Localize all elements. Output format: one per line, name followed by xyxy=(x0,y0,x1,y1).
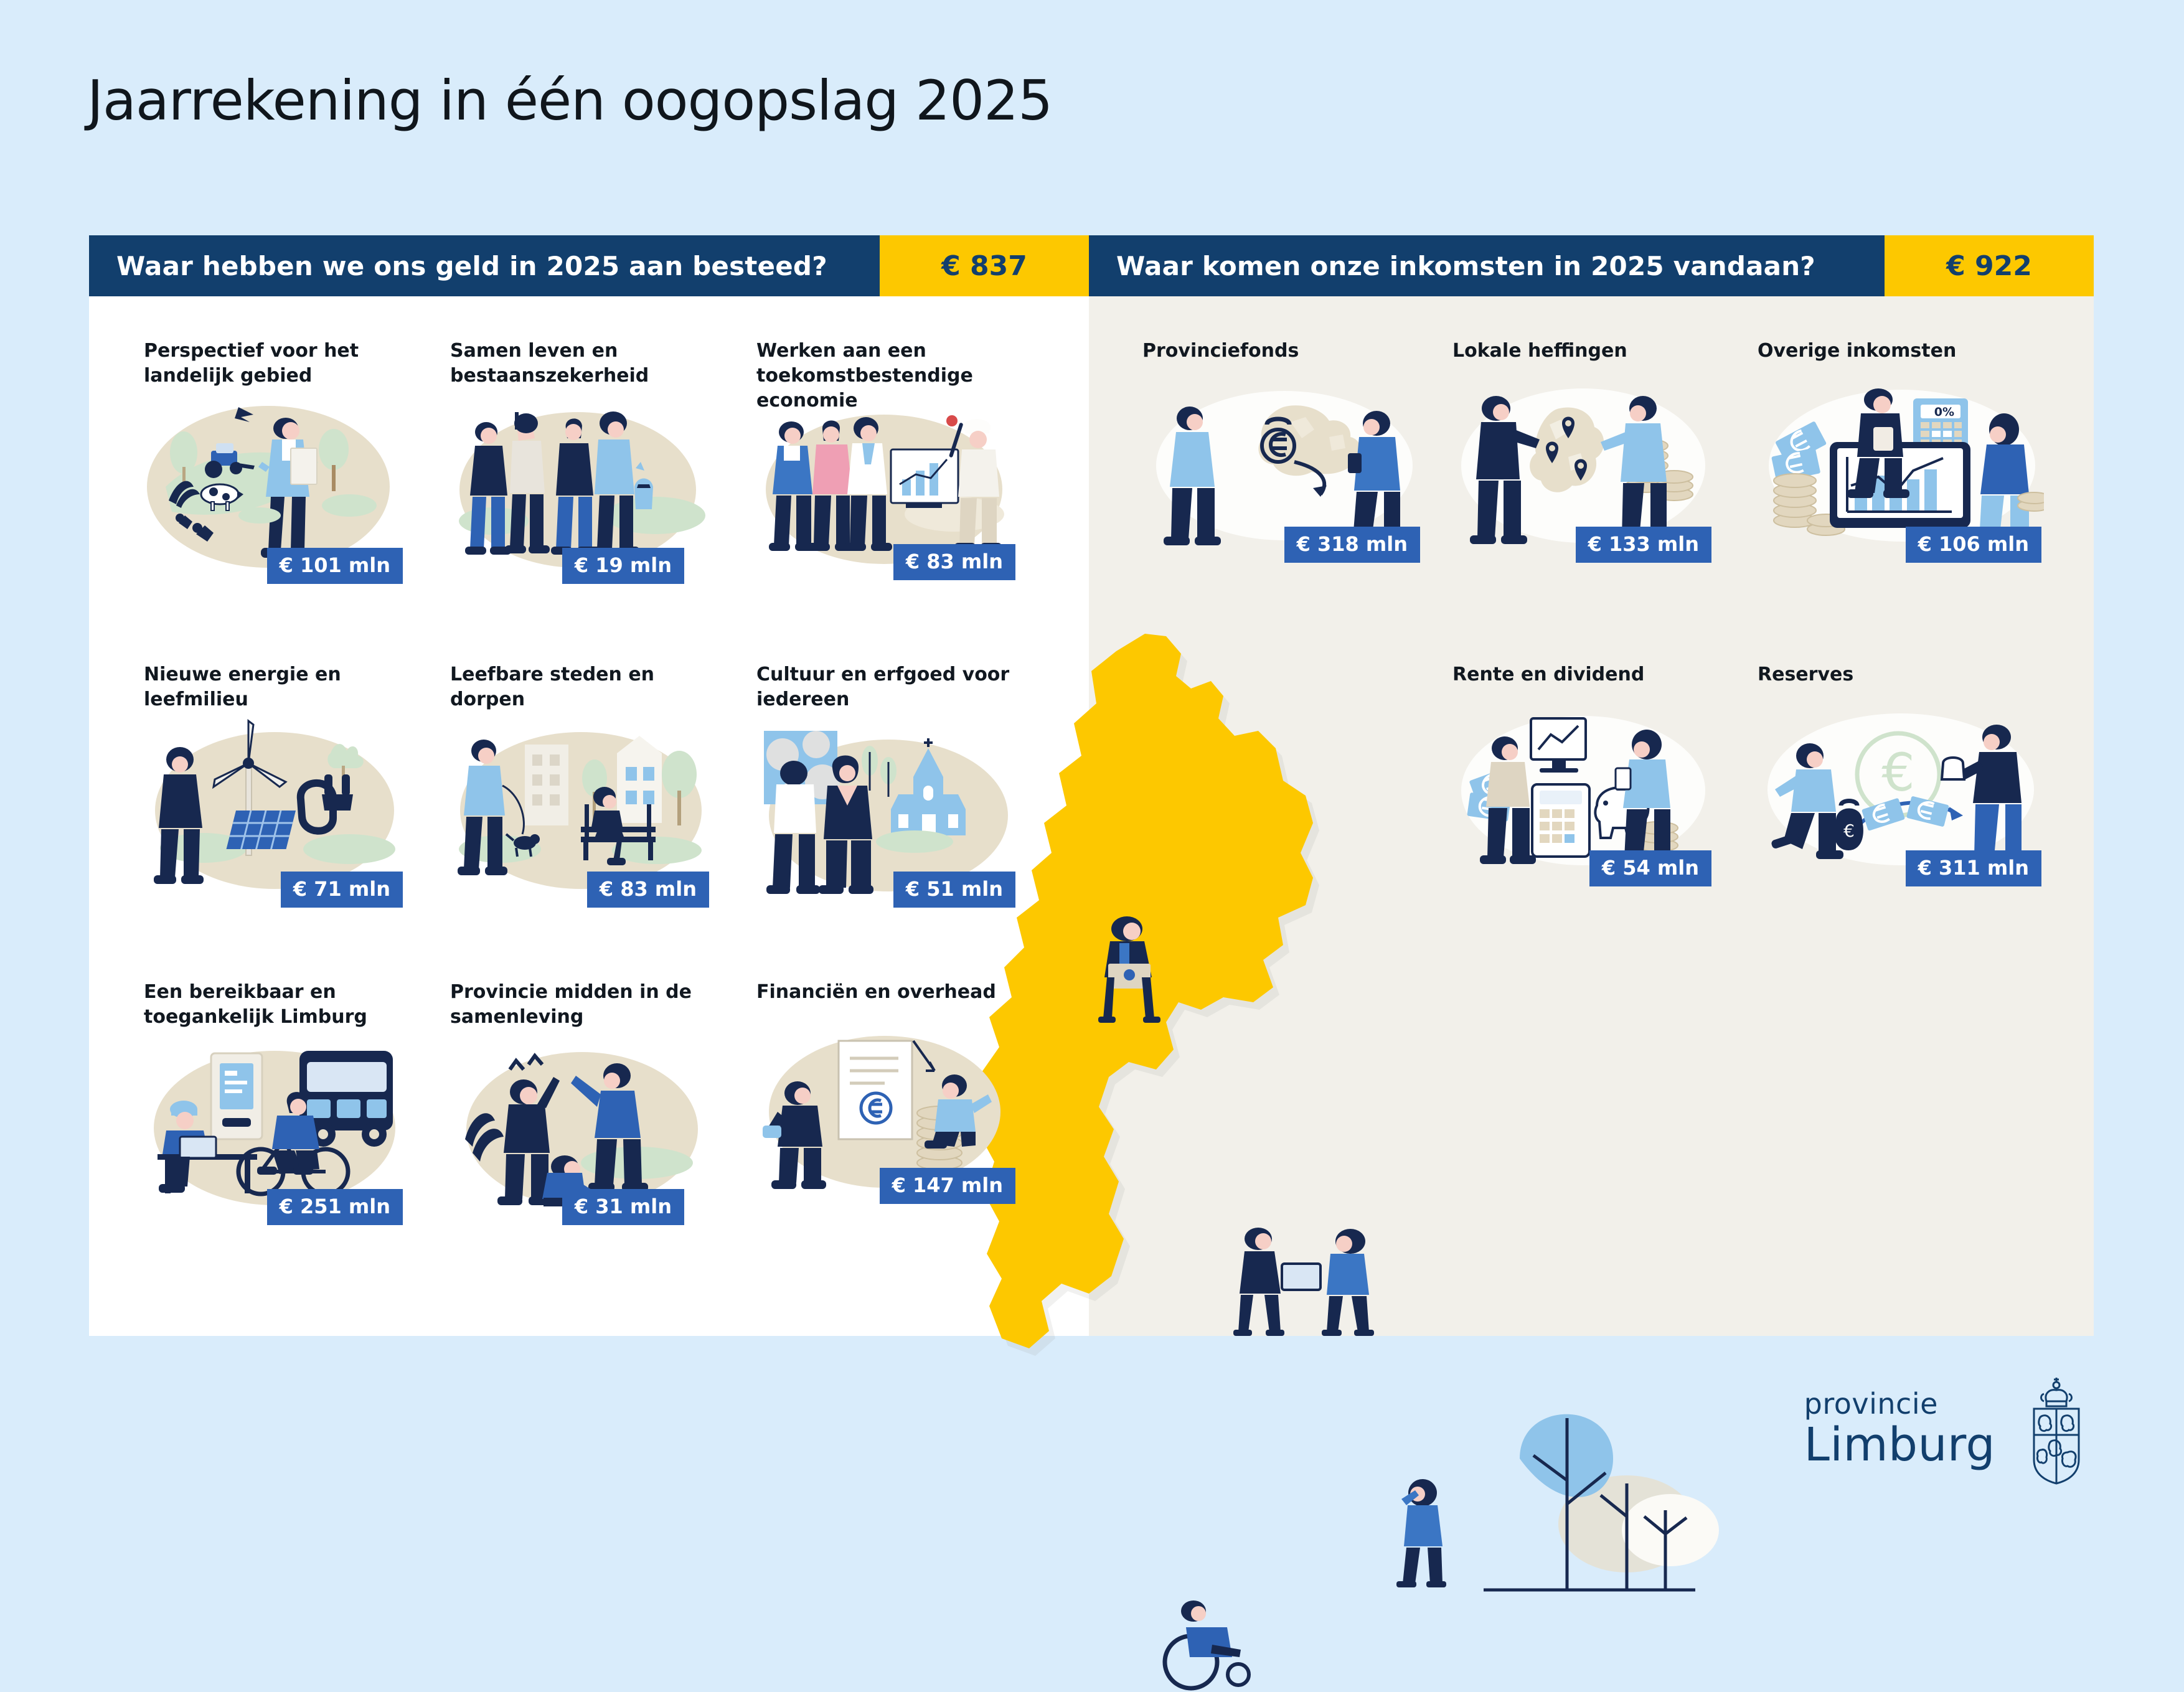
document-coins-icon: € 147 mln xyxy=(756,1013,1018,1200)
city-park-bench-icon: € 83 mln xyxy=(450,717,712,904)
income-card-5-amount: € 311 mln xyxy=(1906,850,2041,886)
expense-card-8: Provincie midden in de samenleving xyxy=(450,980,718,1221)
laptop-chart-calculator-icon: 0% xyxy=(1758,372,2044,559)
income-header: Waar komen onze inkomsten in 2025 vandaa… xyxy=(1089,235,2094,296)
expense-card-3: Werken aan een toekomstbestendige econom… xyxy=(756,339,1024,576)
logo-wordmark: provincie Limburg xyxy=(1804,1389,1995,1468)
expense-card-5-amount: € 83 mln xyxy=(587,872,709,908)
map-pins-coins-icon: € 133 mln xyxy=(1452,372,1714,559)
expense-card-9-amount: € 147 mln xyxy=(880,1168,1015,1204)
expense-card-8-amount: € 31 mln xyxy=(562,1189,684,1225)
expenses-total-amount: € 837 xyxy=(941,250,1027,282)
income-total-amount: € 922 xyxy=(1946,250,2032,282)
page-title: Jaarrekening in één oogopslag 2025 xyxy=(87,68,1052,133)
group-of-people-icon: € 19 mln xyxy=(450,393,712,580)
income-card-4-label: Rente en dividend xyxy=(1452,662,1720,691)
expense-card-2-label: Samen leven en bestaanszekerheid xyxy=(450,339,718,388)
map-figure-carrying-box xyxy=(1082,915,1175,1033)
painting-church-icon: € 51 mln xyxy=(756,717,1018,904)
expense-card-6-label: Cultuur en erfgoed voor iedereen xyxy=(756,662,1024,712)
income-card-2-label: Lokale heffingen xyxy=(1452,339,1720,367)
expense-card-9-label: Financiën en overhead xyxy=(756,980,1024,1008)
content-board: Waar hebben we ons geld in 2025 aan best… xyxy=(89,235,2094,1336)
expense-card-7: Een bereikbaar en toegankelijk Limburg xyxy=(144,980,412,1221)
expense-card-3-amount: € 83 mln xyxy=(893,544,1015,580)
expenses-header-title-bar: Waar hebben we ons geld in 2025 aan best… xyxy=(89,235,880,296)
expense-card-1: Perspectief voor het landelijk gebied xyxy=(144,339,412,580)
expenses-header: Waar hebben we ons geld in 2025 aan best… xyxy=(89,235,1089,296)
calculator-piggybank-icon: € 54 mln xyxy=(1452,696,1714,883)
expense-card-2-amount: € 19 mln xyxy=(562,548,684,584)
income-card-1: Provinciefonds xyxy=(1142,339,1423,559)
expense-card-1-label: Perspectief voor het landelijk gebied xyxy=(144,339,412,388)
infographic-page: Jaarrekening in één oogopslag 2025 Waar … xyxy=(0,0,2184,1544)
expense-card-2: Samen leven en bestaanszekerheid xyxy=(450,339,718,580)
expense-card-7-amount: € 251 mln xyxy=(267,1189,403,1225)
income-card-4: Rente en dividend xyxy=(1452,662,1720,883)
income-header-title: Waar komen onze inkomsten in 2025 vandaa… xyxy=(1089,251,1815,281)
svg-text:0%: 0% xyxy=(1934,405,1954,419)
income-card-5-label: Reserves xyxy=(1758,662,2044,691)
windmill-solar-plug-icon: € 71 mln xyxy=(144,717,405,904)
income-card-3: Overige inkomsten xyxy=(1758,339,2044,559)
people-planting-icon: € 31 mln xyxy=(450,1035,712,1221)
income-card-4-amount: € 54 mln xyxy=(1589,850,1711,886)
svg-text:€: € xyxy=(1881,742,1914,803)
provincie-limburg-logo: provincie Limburg xyxy=(1804,1373,2094,1485)
income-card-2-amount: € 133 mln xyxy=(1576,527,1711,563)
income-card-3-label: Overige inkomsten xyxy=(1758,339,2044,367)
logo-line-1: provincie xyxy=(1804,1389,1995,1418)
money-bag-map-icon: € 318 mln xyxy=(1142,372,1423,559)
expense-card-4-label: Nieuwe energie en leefmilieu xyxy=(144,662,412,712)
income-header-amount-bar: € 922 xyxy=(1885,235,2094,296)
expense-card-5: Leefbare steden en dorpen xyxy=(450,662,718,904)
svg-text:€: € xyxy=(1843,820,1855,841)
income-card-1-amount: € 318 mln xyxy=(1284,527,1420,563)
expense-card-6: Cultuur en erfgoed voor iedereen xyxy=(756,662,1024,904)
map-figures-pair xyxy=(1228,1225,1390,1343)
income-header-title-bar: Waar komen onze inkomsten in 2025 vandaa… xyxy=(1089,235,1885,296)
expense-card-8-label: Provincie midden in de samenleving xyxy=(450,980,718,1030)
rural-landscape-farmer-icon: € 101 mln xyxy=(144,393,405,580)
map-figure-wheelchair xyxy=(1159,1592,1283,1692)
workers-chart-icon: € 83 mln xyxy=(756,390,1018,576)
expense-card-1-amount: € 101 mln xyxy=(267,548,403,584)
limburg-coat-of-arms-icon xyxy=(2019,1373,2094,1485)
expenses-header-title: Waar hebben we ons geld in 2025 aan best… xyxy=(89,251,827,281)
expense-card-4: Nieuwe energie en leefmilieu xyxy=(144,662,412,904)
expense-card-9: Financiën en overhead xyxy=(756,980,1024,1200)
income-card-5: Reserves € xyxy=(1758,662,2044,883)
expense-card-5-label: Leefbare steden en dorpen xyxy=(450,662,718,712)
map-scenery-trees xyxy=(1446,1343,1695,1605)
income-card-1-label: Provinciefonds xyxy=(1142,339,1423,367)
expense-card-7-label: Een bereikbaar en toegankelijk Limburg xyxy=(144,980,412,1030)
income-card-3-amount: € 106 mln xyxy=(1906,527,2041,563)
bus-bicycle-icon: € 251 mln xyxy=(144,1035,405,1221)
money-bag-euro-icon: € € xyxy=(1758,696,2044,883)
income-card-2: Lokale heffingen xyxy=(1452,339,1720,559)
expenses-header-amount-bar: € 837 xyxy=(880,235,1089,296)
expense-card-4-amount: € 71 mln xyxy=(281,872,403,908)
expense-card-6-amount: € 51 mln xyxy=(893,872,1015,908)
logo-line-2: Limburg xyxy=(1804,1422,1995,1468)
